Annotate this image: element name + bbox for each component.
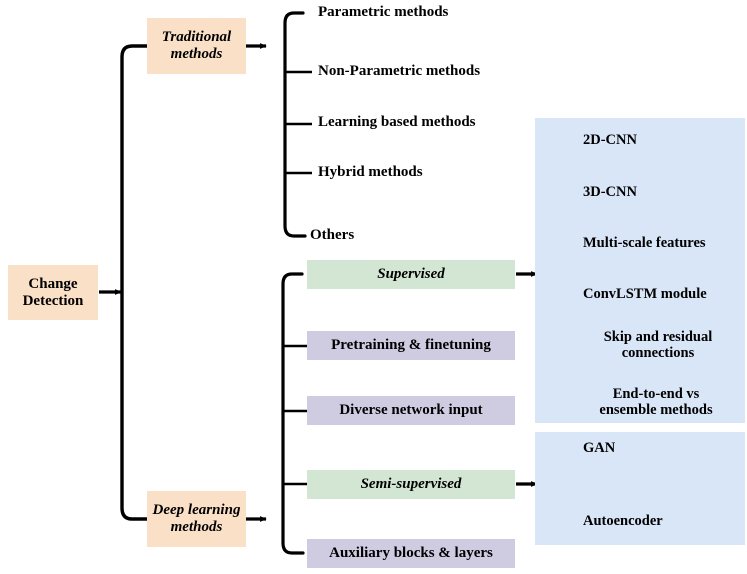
end-to-end-line1: End-to-end vs (613, 386, 700, 402)
leaf-others[interactable]: Others (310, 227, 354, 244)
auxiliary-blocks-layers-label: Auxiliary blocks & layers (329, 545, 493, 562)
semi-supervised-label: Semi-supervised (361, 476, 462, 493)
leaf-autoencoder[interactable]: Autoencoder (583, 514, 663, 530)
leaf-learning-based-methods[interactable]: Learning based methods (318, 114, 476, 131)
diagram-canvas: Change Detection Traditional methods Dee… (0, 0, 747, 574)
supervised-panel (535, 118, 745, 423)
leaf-2d-cnn[interactable]: 2D-CNN (583, 133, 637, 149)
traditional-label-line1: Traditional (162, 29, 231, 45)
deep-learning-label-line1: Deep learning (153, 502, 241, 518)
leaf-end-to-end-vs-ensemble-methods[interactable]: End-to-end vs ensemble methods (570, 387, 742, 419)
leaf-skip-and-residual-connections[interactable]: Skip and residual connections (578, 330, 738, 362)
diverse-network-input-label: Diverse network input (339, 402, 482, 419)
supervised-label: Supervised (377, 266, 445, 283)
category-deep-learning-methods[interactable]: Deep learning methods (147, 491, 246, 547)
skip-residual-line2: connections (622, 345, 695, 361)
node-diverse-network-input[interactable]: Diverse network input (307, 396, 515, 425)
category-traditional-methods[interactable]: Traditional methods (147, 18, 246, 74)
node-pretraining-finetuning[interactable]: Pretraining & finetuning (307, 331, 515, 360)
deep-learning-label-line2: methods (171, 519, 223, 535)
skip-residual-line1: Skip and residual (604, 329, 713, 345)
leaf-multi-scale-features[interactable]: Multi-scale features (583, 236, 706, 252)
end-to-end-line2: ensemble methods (599, 402, 712, 418)
leaf-gan[interactable]: GAN (583, 441, 615, 457)
pretraining-finetuning-label: Pretraining & finetuning (331, 337, 491, 354)
root-node-change-detection[interactable]: Change Detection (8, 265, 98, 320)
root-label-line2: Detection (23, 293, 84, 309)
traditional-label-line2: methods (171, 46, 223, 62)
leaf-hybrid-methods[interactable]: Hybrid methods (318, 164, 423, 181)
node-auxiliary-blocks-layers[interactable]: Auxiliary blocks & layers (307, 539, 515, 568)
leaf-convlstm-module[interactable]: ConvLSTM module (583, 287, 707, 303)
leaf-parametric-methods[interactable]: Parametric methods (318, 4, 448, 21)
root-label-line1: Change (28, 276, 77, 292)
leaf-3d-cnn[interactable]: 3D-CNN (583, 185, 637, 201)
leaf-non-parametric-methods[interactable]: Non-Parametric methods (318, 63, 480, 80)
node-semi-supervised[interactable]: Semi-supervised (307, 470, 515, 499)
node-supervised[interactable]: Supervised (307, 260, 515, 289)
